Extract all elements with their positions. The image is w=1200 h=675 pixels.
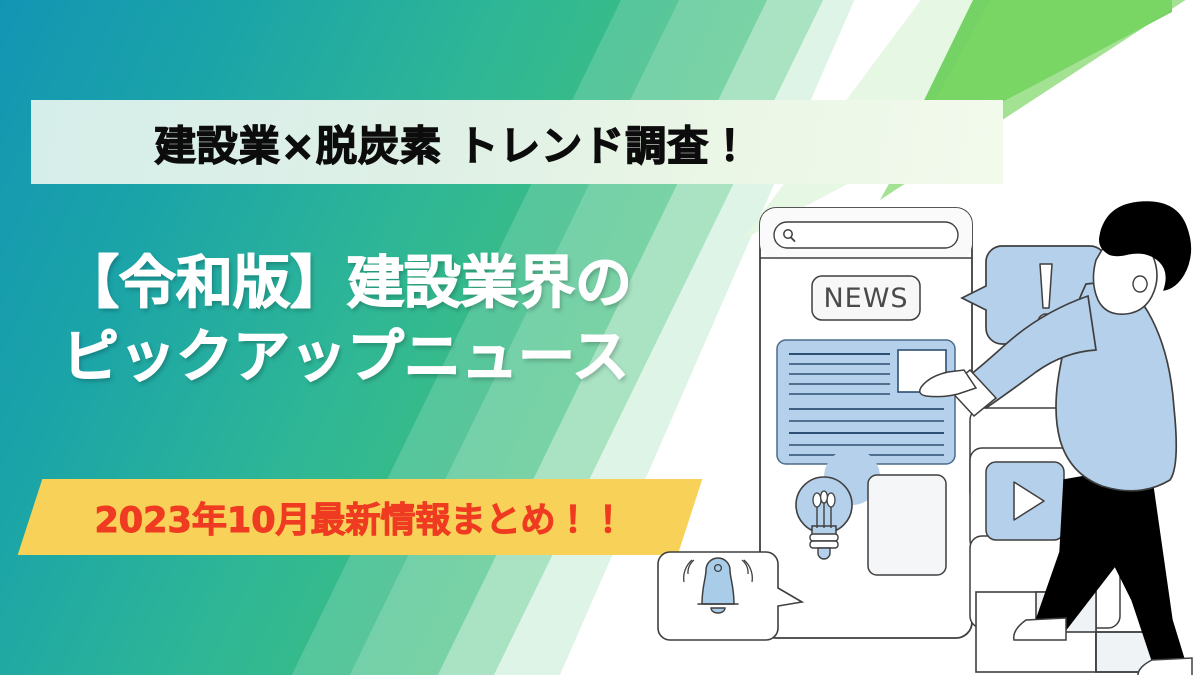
article-card (777, 340, 955, 464)
news-label-chip: NEWS (812, 276, 920, 320)
date-ribbon: 2023年10月最新情報まとめ！！ (30, 479, 690, 555)
svg-text:NEWS: NEWS (823, 283, 908, 314)
date-ribbon-label: 2023年10月最新情報まとめ！！ (94, 492, 625, 543)
poster-canvas: 建設業×脱炭素 トレンド調査！ 【令和版】建設業界の ピックアップニュース 20… (0, 0, 1200, 675)
top-banner-label: 建設業×脱炭素 トレンド調査！ (155, 112, 752, 172)
hero-illustration: NEWS (640, 180, 1200, 675)
blank-card (868, 475, 946, 575)
top-banner: 建設業×脱炭素 トレンド調査！ (31, 100, 1003, 184)
play-card (986, 462, 1064, 540)
phone-mockup: NEWS (760, 208, 972, 638)
